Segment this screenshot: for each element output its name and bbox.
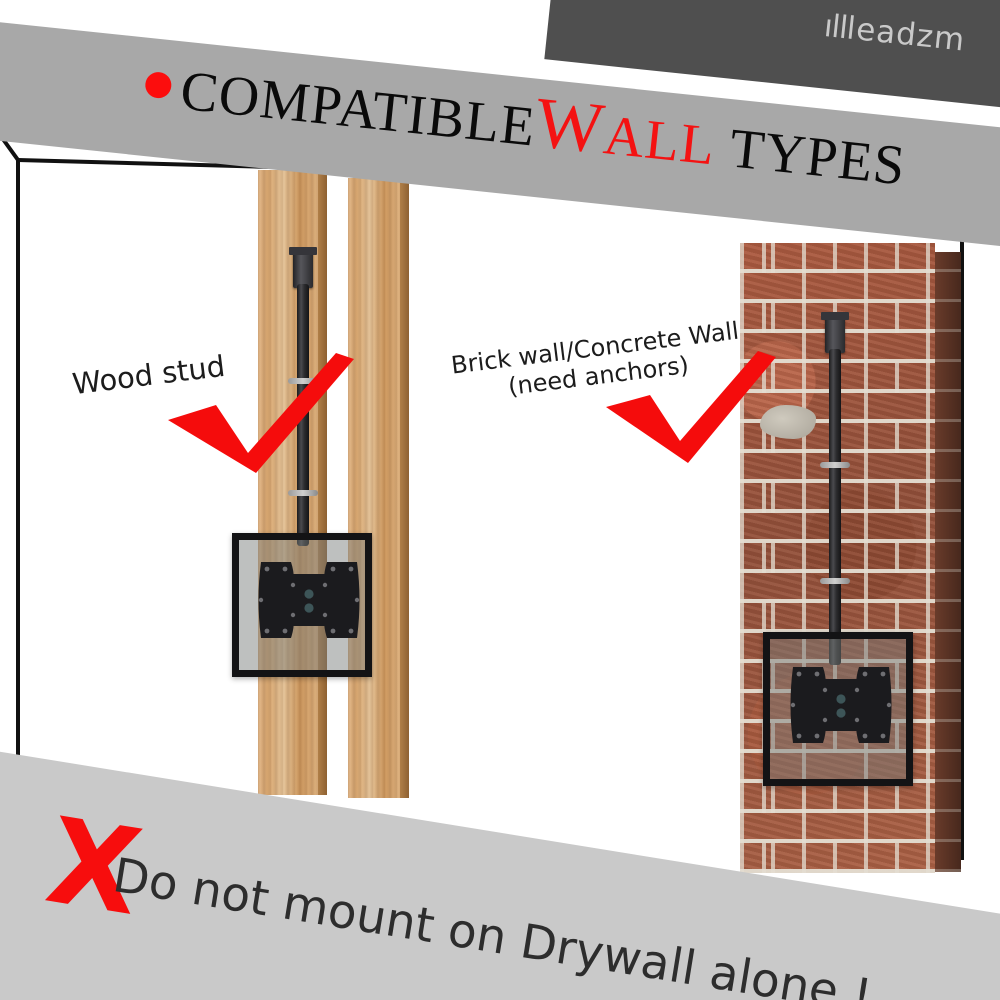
title-highlight-rest: ALL [601,104,719,177]
brick-wall-side-return [935,252,961,872]
title-part-1: COMPATIBLE [178,60,539,159]
vesa-plate-brick [789,663,893,747]
vesa-plate-wood [257,558,361,642]
pole-screw-brick-upper [820,462,850,468]
red-dot-icon [144,71,173,100]
extension-pole-brick [829,349,841,665]
wood-stud-right [348,178,400,798]
bracket-cap-brick [821,312,849,320]
top-bracket-brick [825,315,845,353]
title-part-2-text: TYPES [727,117,909,197]
wood-stud-edge [400,178,409,798]
wood-grain-texture [348,178,400,798]
infographic-canvas: Wood stud Brick wall/Concrete Wall (need… [0,0,1000,1000]
bracket-cap-wood [289,247,317,255]
top-bracket-wood [293,250,313,288]
title-highlight-cap: W [532,82,609,169]
pole-screw-brick-lower [820,578,850,584]
pole-screw-wood-lower [288,490,318,496]
wood-stud-edge [318,170,327,795]
wood-stud-reflection [258,717,318,795]
wood-stud-reflection [348,720,400,798]
